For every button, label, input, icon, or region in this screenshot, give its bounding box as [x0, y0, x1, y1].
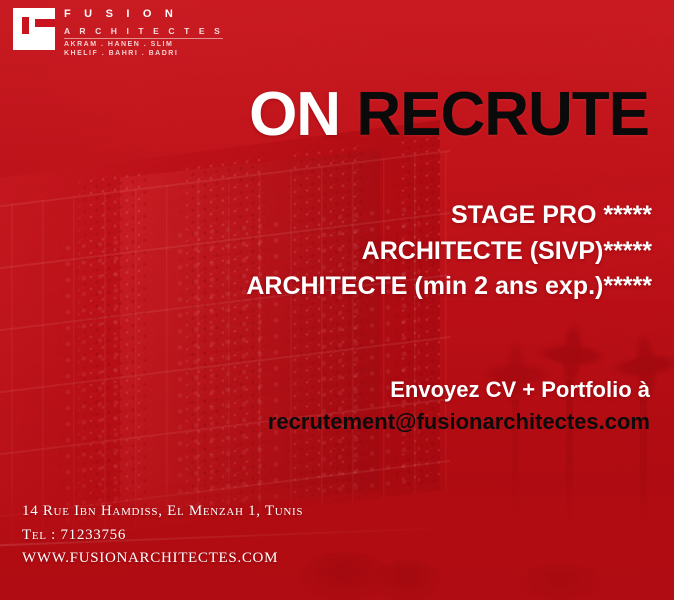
company-logo: F U S I O N A R C H I T E C T E S AKRAM …: [13, 8, 223, 59]
headline-word-on: ON: [249, 80, 340, 149]
job-stars: *****: [603, 201, 652, 229]
page-title: ON RECRUTE: [249, 84, 649, 146]
logo-partners-line-2: KHELIF . BAHRI . BADRI: [64, 50, 223, 59]
logo-wordmark: F U S I O N A R C H I T E C T E S AKRAM …: [64, 8, 223, 59]
job-stars: *****: [603, 237, 652, 265]
fusion-square-mark-icon: [13, 8, 55, 50]
list-item: ARCHITECTE (min 2 ans exp.)*****: [246, 269, 652, 305]
contact-instruction: Envoyez CV + Portfolio à: [268, 375, 650, 405]
contact-block: Envoyez CV + Portfolio à recrutement@fus…: [268, 375, 650, 436]
footer-phone: Tel : 71233756: [22, 524, 303, 547]
list-item: ARCHITECTE (SIVP)*****: [246, 234, 652, 270]
logo-partners-line-1: AKRAM . HANEN . SLIM: [64, 41, 223, 50]
job-list: STAGE PRO ***** ARCHITECTE (SIVP)***** A…: [246, 198, 652, 305]
job-title: ARCHITECTE (SIVP): [362, 237, 604, 265]
job-stars: *****: [603, 272, 652, 300]
job-title: STAGE PRO: [451, 201, 596, 229]
list-item: STAGE PRO *****: [246, 198, 652, 234]
headline-word-recrute: RECRUTE: [356, 80, 649, 149]
job-title: ARCHITECTE (min 2 ans exp.): [246, 272, 603, 300]
logo-company-name: F U S I O N: [64, 9, 223, 21]
logo-company-subtitle: A R C H I T E C T E S: [64, 27, 223, 39]
contact-email[interactable]: recrutement@fusionarchitectes.com: [268, 407, 650, 437]
recruitment-poster: F U S I O N A R C H I T E C T E S AKRAM …: [0, 0, 674, 600]
footer-website[interactable]: WWW.FUSIONARCHITECTES.COM: [22, 547, 303, 570]
footer-contact-info: 14 Rue Ibn Hamdiss, El Menzah 1, Tunis T…: [22, 500, 303, 570]
footer-address: 14 Rue Ibn Hamdiss, El Menzah 1, Tunis: [22, 500, 303, 523]
logo-partners: AKRAM . HANEN . SLIM KHELIF . BAHRI . BA…: [64, 41, 223, 59]
